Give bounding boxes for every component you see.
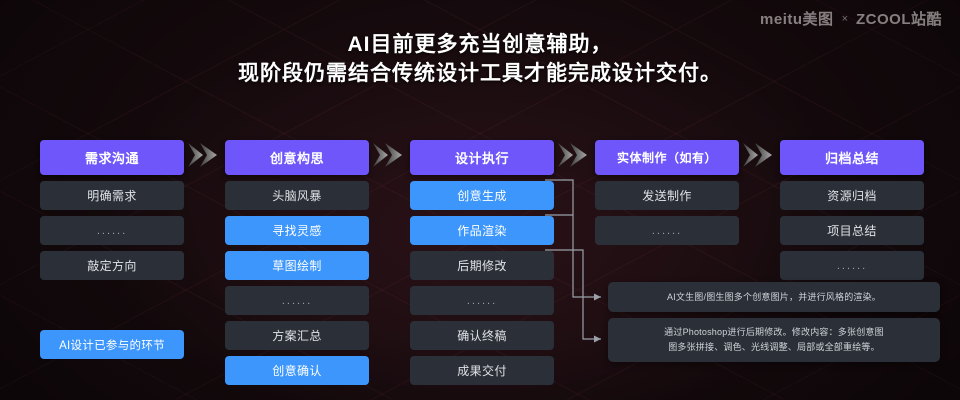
cell-1-2[interactable]: ...... bbox=[40, 216, 184, 245]
annotation-note-1: AI文生图/图生图多个创意图片，并进行风格的渲染。 bbox=[608, 282, 940, 312]
title-line-2: 现阶段仍需结合传统设计工具才能完成设计交付。 bbox=[0, 59, 960, 88]
page-title: AI目前更多充当创意辅助， 现阶段仍需结合传统设计工具才能完成设计交付。 bbox=[0, 30, 960, 88]
arrow-icon-3-4 bbox=[556, 140, 590, 170]
column-header-4: 实体制作（如有） bbox=[595, 140, 739, 175]
cell-5-2[interactable]: 项目总结 bbox=[780, 216, 924, 245]
column-header-5: 归档总结 bbox=[780, 140, 924, 175]
logo-separator-icon: × bbox=[842, 13, 848, 25]
cell-3-5[interactable]: 确认终稿 bbox=[410, 321, 554, 350]
column-design-execution: 设计执行 创意生成 作品渲染 后期修改 ...... 确认终稿 成果交付 bbox=[410, 140, 554, 385]
note-2-line-2: 图多张拼接、调色、光线调整、局部或全部重绘等。 bbox=[668, 342, 880, 352]
cell-3-6[interactable]: 成果交付 bbox=[410, 356, 554, 385]
zcool-logo: ZCOOL站酷 bbox=[856, 8, 942, 29]
column-header-3: 设计执行 bbox=[410, 140, 554, 175]
cell-2-2[interactable]: 寻找灵感 bbox=[225, 216, 369, 245]
cell-2-5[interactable]: 方案汇总 bbox=[225, 321, 369, 350]
cell-5-1[interactable]: 资源归档 bbox=[780, 181, 924, 210]
cell-3-4[interactable]: ...... bbox=[410, 286, 554, 315]
arrow-icon-4-5 bbox=[741, 140, 775, 170]
cell-3-1[interactable]: 创意生成 bbox=[410, 181, 554, 210]
note-1-text: AI文生图/图生图多个创意图片，并进行风格的渲染。 bbox=[667, 290, 881, 304]
cell-4-2[interactable]: ...... bbox=[595, 216, 739, 245]
cell-4-1[interactable]: 发送制作 bbox=[595, 181, 739, 210]
cell-2-6[interactable]: 创意确认 bbox=[225, 356, 369, 385]
column-header-2: 创意构思 bbox=[225, 140, 369, 175]
arrow-icon-2-3 bbox=[371, 140, 405, 170]
cell-5-3[interactable]: ...... bbox=[780, 251, 924, 280]
cell-2-4[interactable]: ...... bbox=[225, 286, 369, 315]
cell-1-3[interactable]: 敲定方向 bbox=[40, 251, 184, 280]
column-physical-production: 实体制作（如有） 发送制作 ...... bbox=[595, 140, 739, 245]
column-archive-summary: 归档总结 资源归档 项目总结 ...... bbox=[780, 140, 924, 280]
cell-3-2[interactable]: 作品渲染 bbox=[410, 216, 554, 245]
cell-2-3[interactable]: 草图绘制 bbox=[225, 251, 369, 280]
cell-3-3[interactable]: 后期修改 bbox=[410, 251, 554, 280]
note-2-line-1: 通过Photoshop进行后期修改。修改内容：多张创意图 bbox=[664, 327, 884, 337]
note-2-text: 通过Photoshop进行后期修改。修改内容：多张创意图 图多张拼接、调色、光线… bbox=[664, 325, 884, 355]
cell-2-1[interactable]: 头脑风暴 bbox=[225, 181, 369, 210]
column-creative-ideation: 创意构思 头脑风暴 寻找灵感 草图绘制 ...... 方案汇总 创意确认 bbox=[225, 140, 369, 385]
column-header-1: 需求沟通 bbox=[40, 140, 184, 175]
cell-1-1[interactable]: 明确需求 bbox=[40, 181, 184, 210]
annotation-note-2: 通过Photoshop进行后期修改。修改内容：多张创意图 图多张拼接、调色、光线… bbox=[608, 318, 940, 362]
column-requirement-communication: 需求沟通 明确需求 ...... 敲定方向 bbox=[40, 140, 184, 280]
legend-ai-involved: AI设计已参与的环节 bbox=[40, 330, 184, 359]
title-line-1: AI目前更多充当创意辅助， bbox=[0, 30, 960, 59]
brand-logos: meitu美图 × ZCOOL站酷 bbox=[760, 8, 942, 29]
meitu-logo: meitu美图 bbox=[760, 8, 834, 29]
arrow-icon-1-2 bbox=[186, 140, 220, 170]
legend-label: AI设计已参与的环节 bbox=[59, 337, 165, 353]
